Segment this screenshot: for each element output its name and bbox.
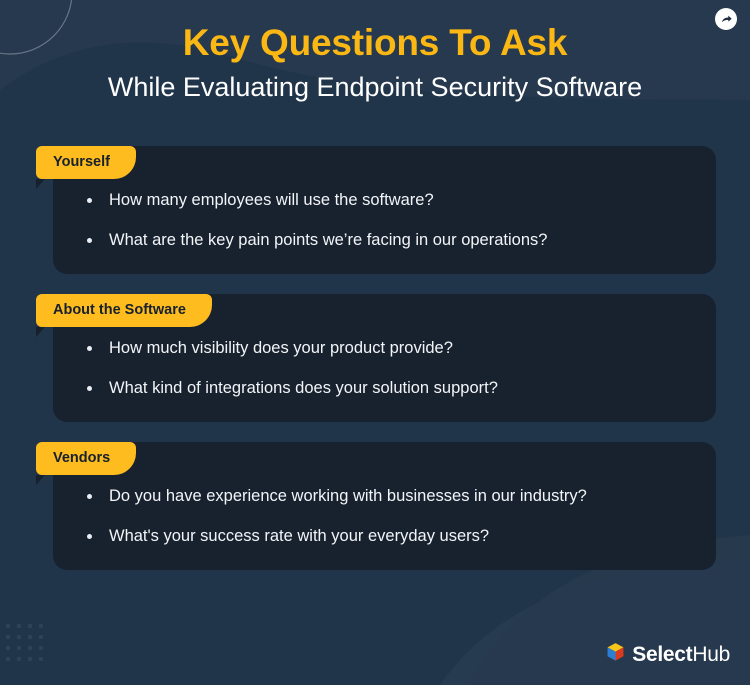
question-card: Do you have experience working with busi… xyxy=(53,442,716,570)
question-text: How much visibility does your product pr… xyxy=(109,339,453,357)
question-list: How much visibility does your product pr… xyxy=(79,338,690,400)
brand-name: SelectHub xyxy=(632,644,730,665)
question-text: Do you have experience working with busi… xyxy=(109,487,587,505)
decorative-dot xyxy=(28,624,32,628)
question-section: VendorsDo you have experience working wi… xyxy=(36,442,716,570)
dot-grid-decoration xyxy=(6,624,106,684)
bullet-icon xyxy=(87,386,92,391)
question-item: What's your success rate with your every… xyxy=(79,526,690,547)
section-tab-1[interactable]: About the Software xyxy=(36,294,212,327)
bullet-icon xyxy=(87,346,92,351)
question-text: How many employees will use the software… xyxy=(109,191,434,209)
tab-fold-shape xyxy=(36,179,45,189)
question-list: Do you have experience working with busi… xyxy=(79,486,690,548)
question-section: About the SoftwareHow much visibility do… xyxy=(36,294,716,422)
question-text: What kind of integrations does your solu… xyxy=(109,379,498,397)
tab-fold-shape xyxy=(36,327,45,337)
tab-fold-shape xyxy=(36,475,45,485)
page-subtitle: While Evaluating Endpoint Security Softw… xyxy=(0,71,750,103)
section-tab-2[interactable]: Vendors xyxy=(36,442,136,475)
decorative-dot xyxy=(17,624,21,628)
decorative-dot xyxy=(39,635,43,639)
decorative-dot xyxy=(28,646,32,650)
decorative-dot xyxy=(17,657,21,661)
decorative-dot xyxy=(6,657,10,661)
brand-logo[interactable]: SelectHub xyxy=(606,642,730,667)
question-text: What are the key pain points we’re facin… xyxy=(109,231,547,249)
section-tab-0[interactable]: Yourself xyxy=(36,146,136,179)
page-title: Key Questions To Ask xyxy=(0,22,750,65)
question-section: YourselfHow many employees will use the … xyxy=(36,146,716,274)
sections-container: YourselfHow many employees will use the … xyxy=(36,146,716,590)
bullet-icon xyxy=(87,534,92,539)
decorative-dot xyxy=(6,646,10,650)
bullet-icon xyxy=(87,494,92,499)
infographic-canvas: Key Questions To Ask While Evaluating En… xyxy=(0,0,750,685)
decorative-dot xyxy=(39,624,43,628)
bullet-icon xyxy=(87,198,92,203)
question-card: How many employees will use the software… xyxy=(53,146,716,274)
brand-name-light: Hub xyxy=(692,643,730,666)
question-item: Do you have experience working with busi… xyxy=(79,486,690,507)
question-item: What are the key pain points we’re facin… xyxy=(79,230,690,251)
selecthub-cube-icon xyxy=(606,642,625,667)
question-item: What kind of integrations does your solu… xyxy=(79,378,690,399)
decorative-dot xyxy=(39,646,43,650)
header: Key Questions To Ask While Evaluating En… xyxy=(0,22,750,103)
decorative-dot xyxy=(6,635,10,639)
question-text: What's your success rate with your every… xyxy=(109,527,489,545)
decorative-dot xyxy=(28,635,32,639)
brand-name-bold: Select xyxy=(632,643,692,666)
question-item: How many employees will use the software… xyxy=(79,190,690,211)
question-list: How many employees will use the software… xyxy=(79,190,690,252)
decorative-dot xyxy=(6,624,10,628)
decorative-dot xyxy=(17,635,21,639)
question-item: How much visibility does your product pr… xyxy=(79,338,690,359)
decorative-dot xyxy=(28,657,32,661)
bullet-icon xyxy=(87,238,92,243)
decorative-dot xyxy=(17,646,21,650)
decorative-dot xyxy=(39,657,43,661)
